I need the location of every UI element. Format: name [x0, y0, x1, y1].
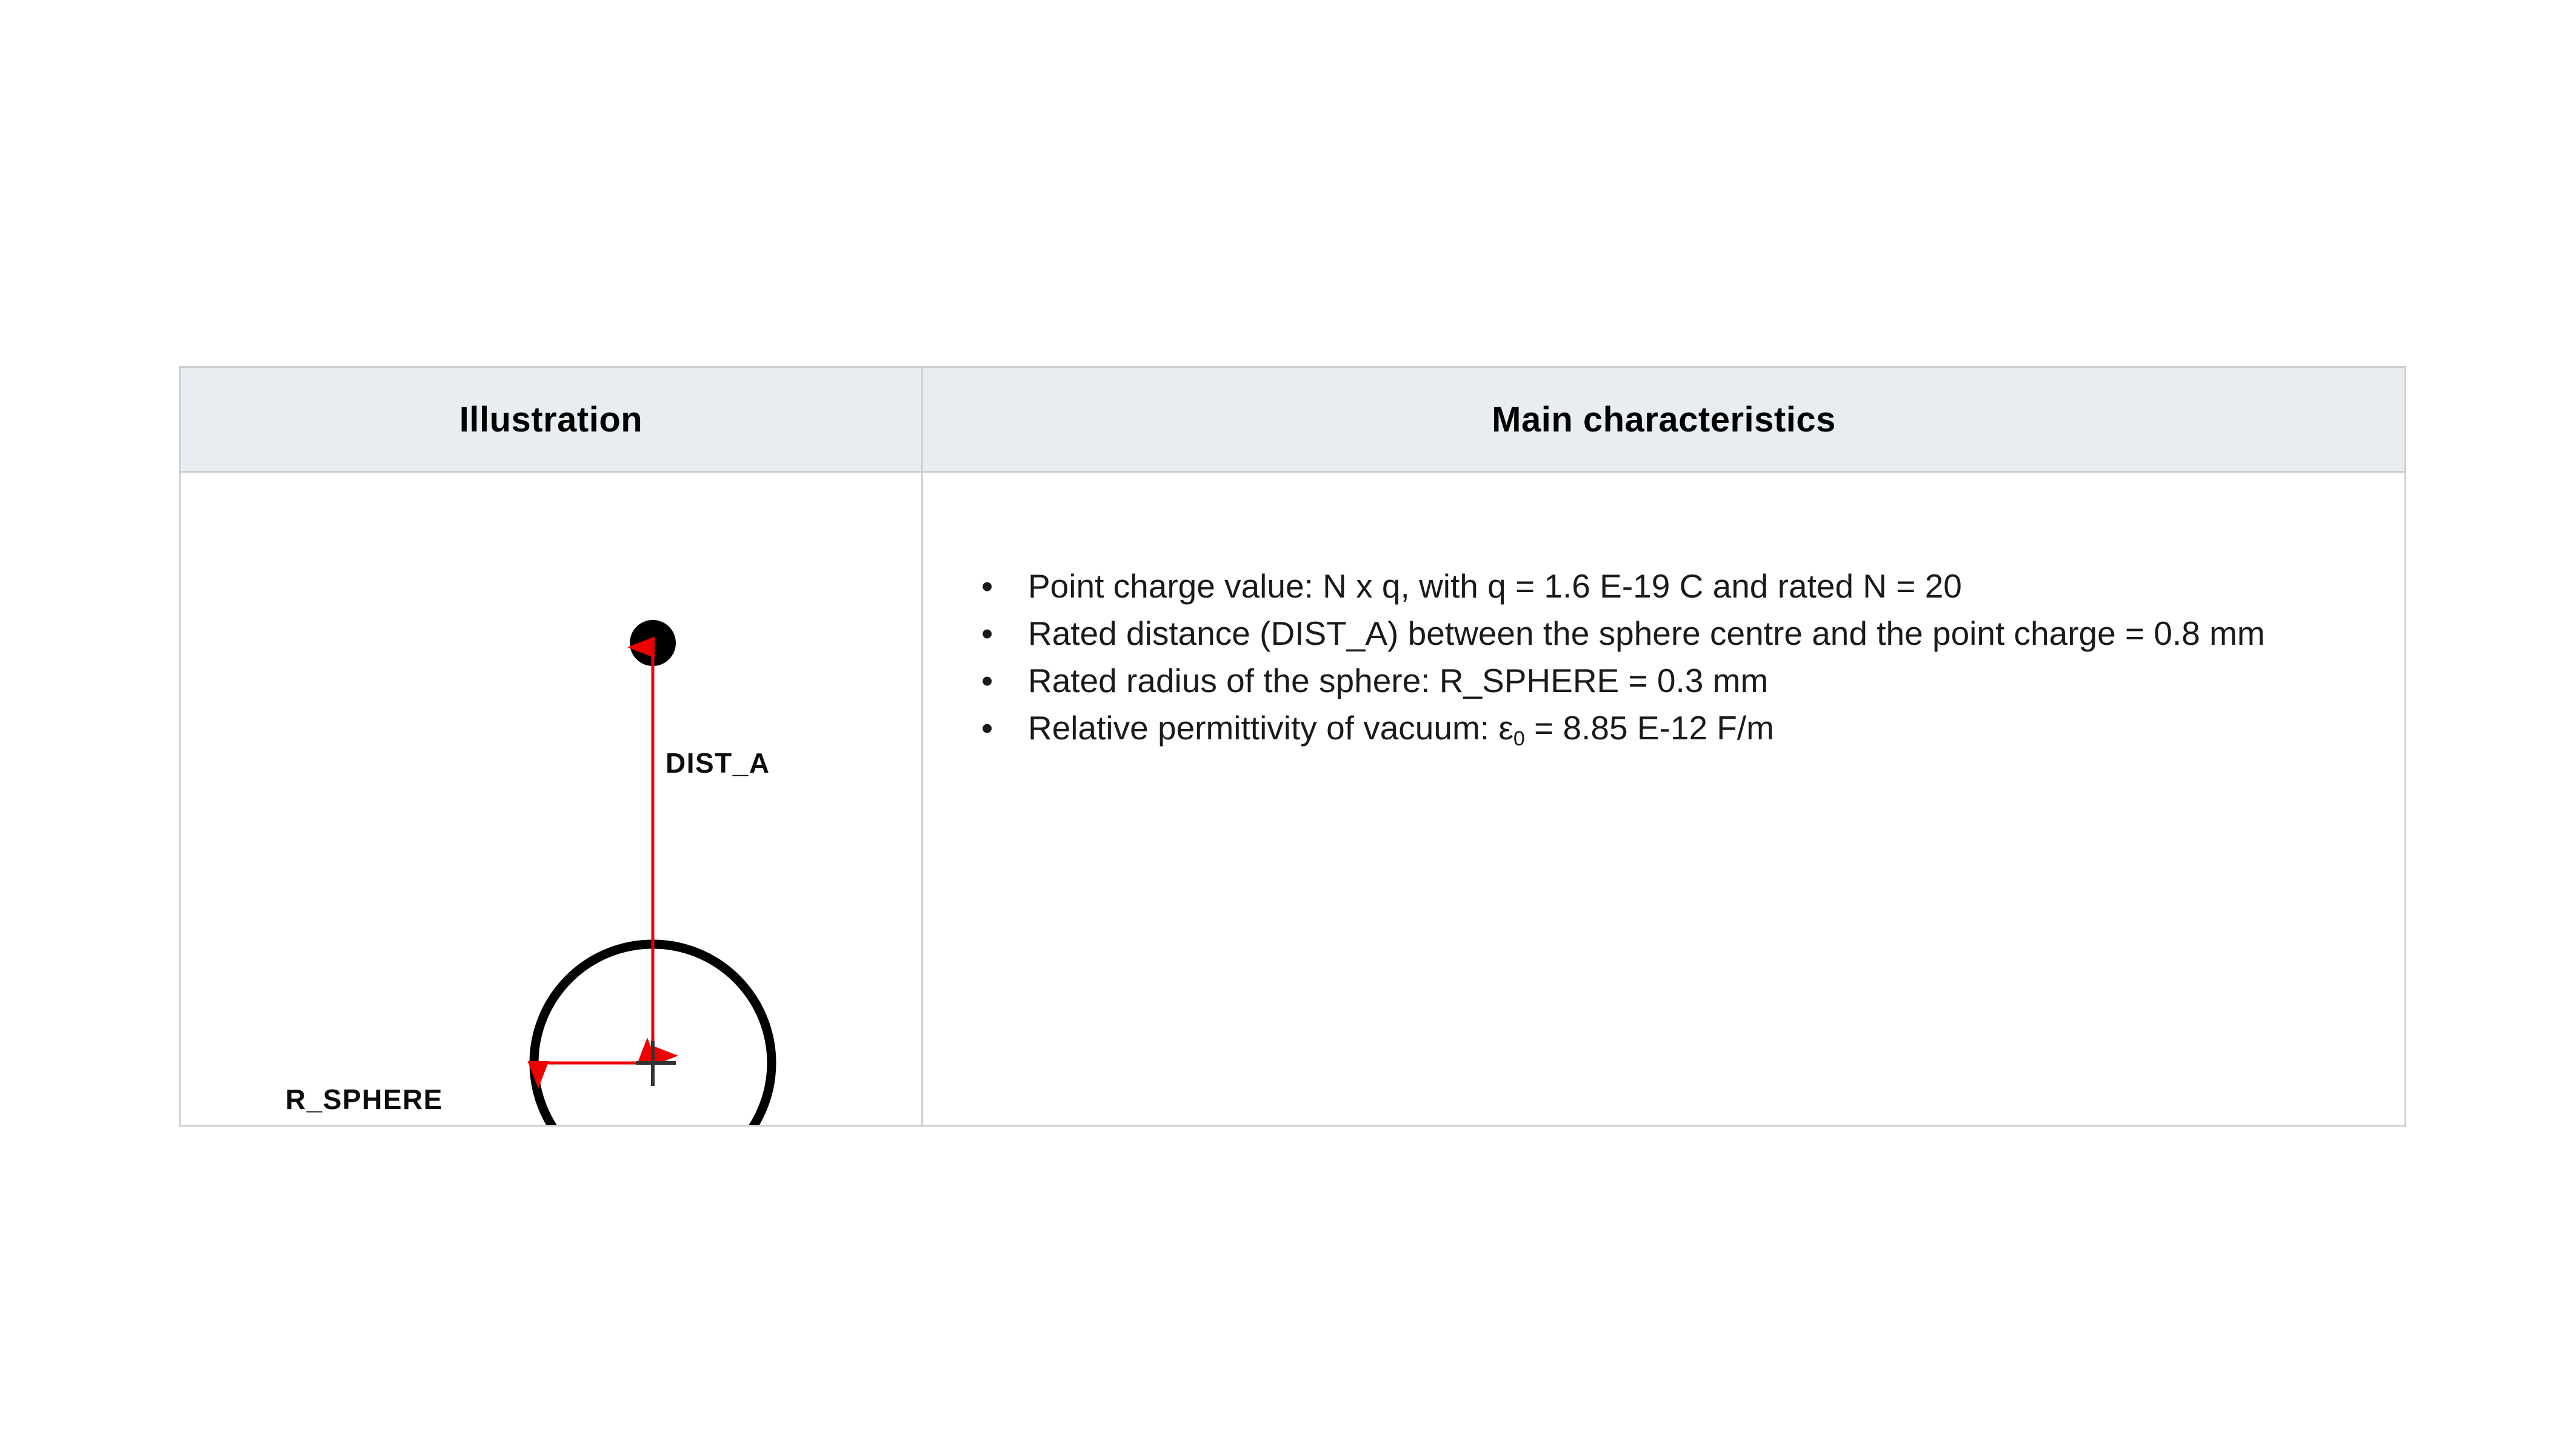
bullet-point-icon: • [981, 706, 993, 750]
specification-table: Illustration Main characteristics [179, 366, 2406, 1127]
characteristic-text: Rated distance (DIST_A) between the sphe… [1028, 615, 2265, 652]
characteristics-cell: •Point charge value: N x q, with q = 1.6… [923, 472, 2406, 1126]
characteristic-item-relative-permittivity: •Relative permittivity of vacuum: ε0 = 8… [975, 706, 2344, 750]
bullet-point-icon: • [981, 659, 993, 703]
characteristics-list: •Point charge value: N x q, with q = 1.6… [923, 473, 2404, 751]
illustration-canvas: DIST_A R_SPHERE [181, 473, 921, 1125]
table-header: Illustration Main characteristics [180, 367, 2406, 472]
point-charge-sphere-diagram [181, 473, 921, 1125]
page-root: Illustration Main characteristics [0, 0, 2576, 1449]
distance-label: DIST_A [666, 747, 770, 779]
bullet-point-icon: • [981, 611, 993, 656]
column-header-characteristics: Main characteristics [923, 367, 2406, 472]
characteristic-item-rated-radius: •Rated radius of the sphere: R_SPHERE = … [975, 659, 2344, 703]
subscript: 0 [1513, 727, 1525, 750]
column-header-illustration: Illustration [180, 367, 923, 472]
characteristic-text: Point charge value: N x q, with q = 1.6 … [1028, 567, 1962, 605]
sphere-centre-crosshair-icon [636, 1041, 676, 1086]
radius-label: R_SPHERE [285, 1083, 443, 1116]
table-header-row: Illustration Main characteristics [180, 367, 2406, 472]
bullet-point-icon: • [981, 564, 993, 608]
table-body: DIST_A R_SPHERE •Point charge value: N x… [180, 472, 2406, 1126]
characteristic-text: Rated radius of the sphere: R_SPHERE = 0… [1028, 662, 1768, 699]
characteristic-item-point-charge-value: •Point charge value: N x q, with q = 1.6… [975, 564, 2344, 608]
illustration-cell: DIST_A R_SPHERE [180, 472, 923, 1126]
characteristic-text: Relative permittivity of vacuum: ε0 = 8.… [1028, 709, 1774, 747]
characteristic-item-rated-distance: •Rated distance (DIST_A) between the sph… [975, 611, 2344, 656]
table-row: DIST_A R_SPHERE •Point charge value: N x… [180, 472, 2406, 1126]
